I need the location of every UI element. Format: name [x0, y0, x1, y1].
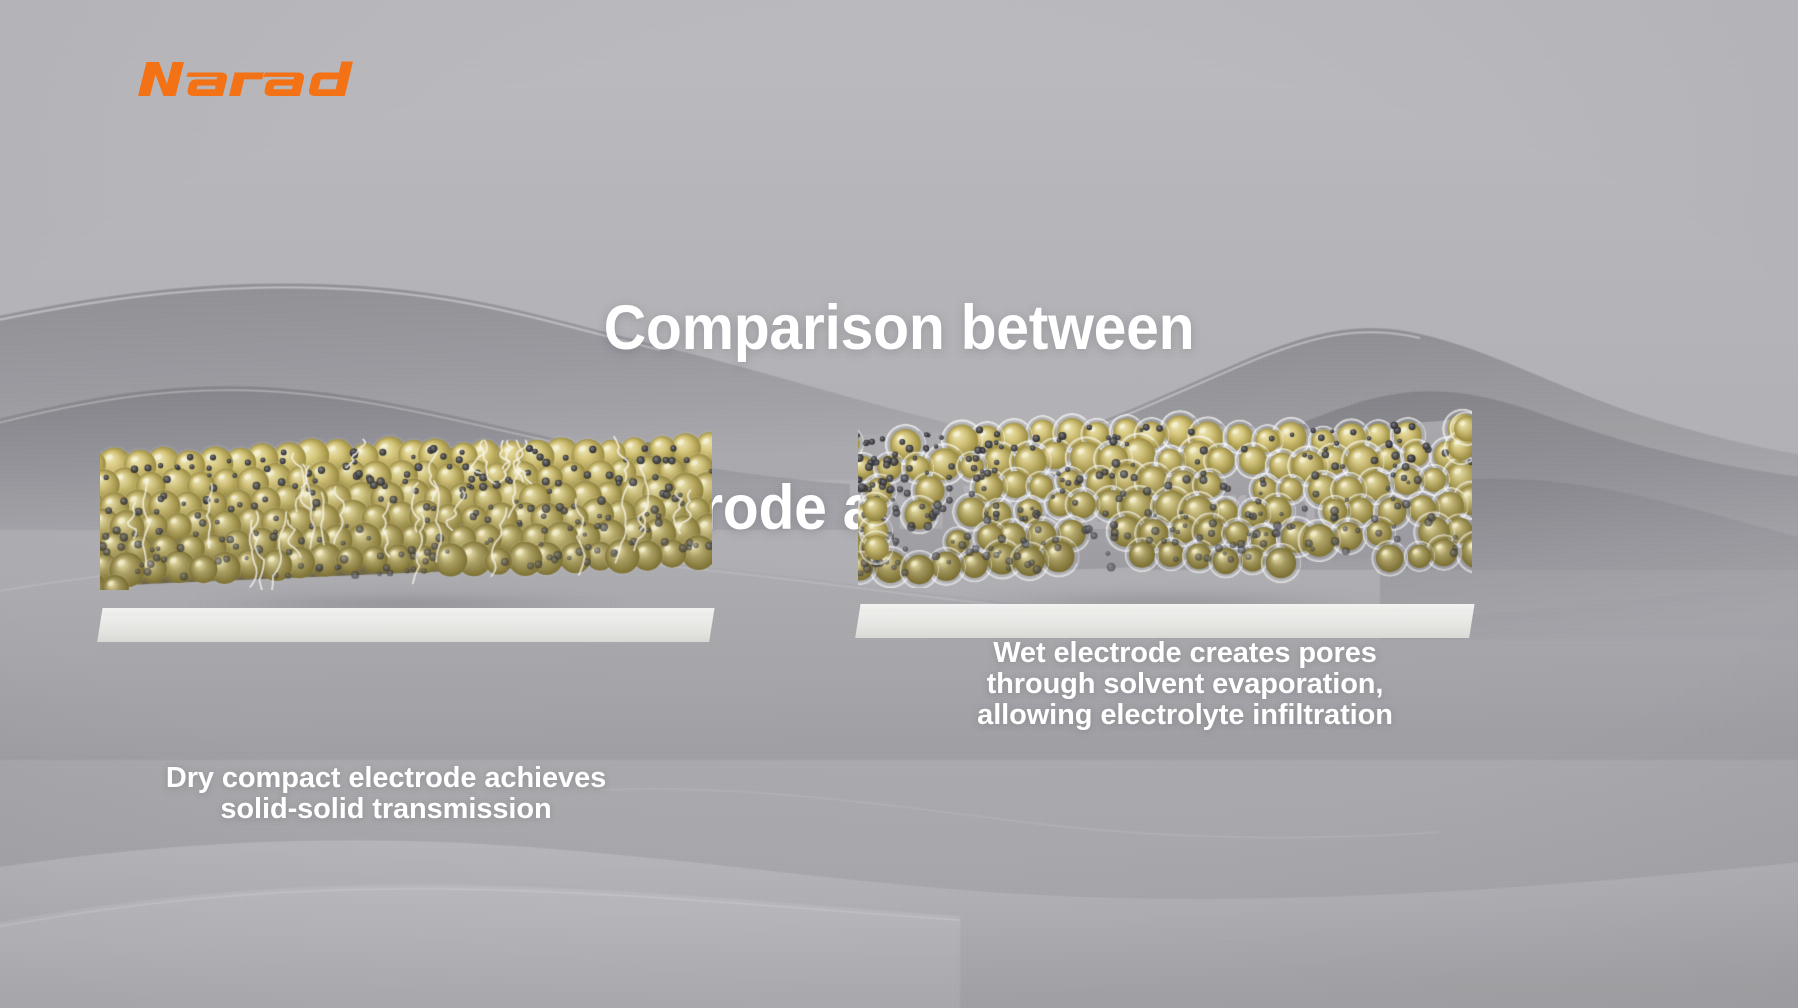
dry-electrode-particle-body: [100, 430, 712, 590]
dry-electrode-visual: [100, 430, 712, 610]
dry-electrode-base-plate: [97, 608, 714, 640]
narada-logo[interactable]: [128, 58, 360, 100]
wet-electrode-particle-body: [858, 408, 1472, 588]
background-dune-foreground: [0, 720, 1798, 1008]
wet-electrode-visual: [858, 408, 1472, 608]
wet-electrode-base-plate: [855, 604, 1474, 636]
slide-canvas: Comparison between Dry Electrode and Wet…: [0, 0, 1798, 1008]
